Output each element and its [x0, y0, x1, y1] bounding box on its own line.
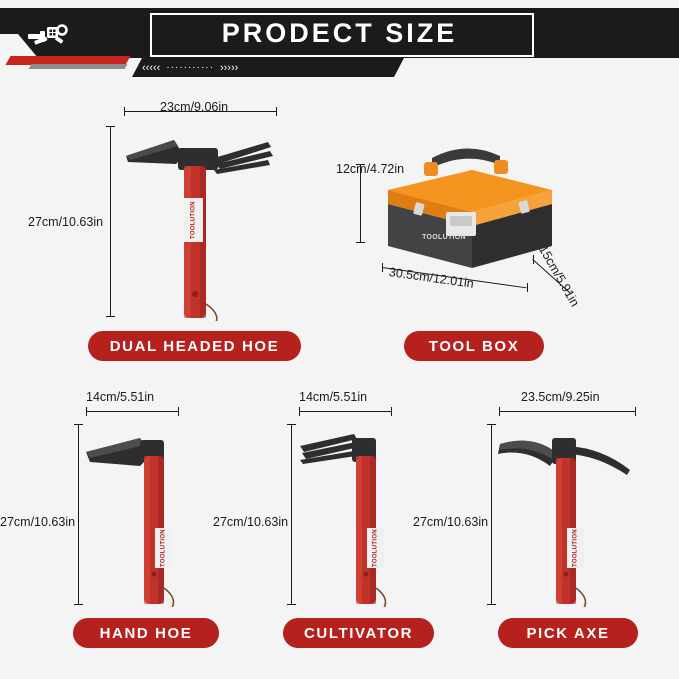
dim-tick: [86, 407, 87, 416]
dim-tick: [74, 424, 83, 425]
chevron-strip: ‹‹‹‹‹ ··········· ›››››: [132, 58, 404, 77]
dim-line-height: [110, 126, 111, 316]
page-header: PRODECT SIZE ‹‹‹‹‹ ··········· ›››››: [0, 0, 679, 84]
product-name-hand-hoe: HAND HOE: [73, 618, 219, 648]
product-name-dual-headed-hoe: DUAL HEADED HOE: [88, 331, 301, 361]
chevrons-left: ‹‹‹‹‹: [142, 62, 160, 74]
dim-width-label: 14cm/5.51in: [299, 390, 367, 404]
dim-line-width: [499, 411, 635, 412]
dim-tick: [635, 407, 636, 416]
dim-line-width: [86, 411, 178, 412]
pick-axe-image: [496, 422, 641, 607]
dual-headed-hoe-image: [118, 126, 288, 321]
dim-height-label: 27cm/10.63in: [28, 215, 103, 229]
dim-tick: [276, 107, 277, 116]
brand-plate: TOOLUTION: [367, 528, 384, 568]
dim-height-label: 27cm/10.63in: [413, 515, 488, 529]
dim-tick: [74, 604, 83, 605]
dim-tick: [356, 242, 365, 243]
page-title: PRODECT SIZE: [0, 8, 679, 58]
product-name-pick-axe: PICK AXE: [498, 618, 638, 648]
dim-tick: [287, 604, 296, 605]
chevrons-right: ›››››: [220, 62, 238, 74]
dim-tick: [178, 407, 179, 416]
dim-tick: [106, 316, 115, 317]
dim-width-label: 23.5cm/9.25in: [521, 390, 600, 404]
dim-tick: [499, 407, 500, 416]
dim-tick: [299, 407, 300, 416]
dim-line-height: [78, 424, 79, 604]
brand-plate: TOOLUTION: [155, 528, 172, 568]
brand-plate: TOOLUTION: [567, 528, 584, 568]
brand-plate: TOOLUTION: [184, 198, 203, 242]
brand-plate: TOOLUTION: [420, 232, 468, 242]
tool-box-image: [376, 134, 561, 274]
header-gray-accent: [29, 64, 128, 69]
dim-tick: [106, 126, 115, 127]
dim-tick: [487, 424, 496, 425]
dim-line-height: [491, 424, 492, 604]
dim-line-height: [291, 424, 292, 604]
dim-tick: [527, 283, 528, 292]
dim-width-label: 23cm/9.06in: [160, 100, 228, 114]
dim-tick: [124, 107, 125, 116]
hand-hoe-image: [84, 422, 194, 607]
dim-tick: [487, 604, 496, 605]
dim-width-label: 14cm/5.51in: [86, 390, 154, 404]
dim-tick: [391, 407, 392, 416]
chevron-dots: ···········: [162, 62, 218, 73]
dim-line-width: [299, 411, 391, 412]
dim-height-label: 27cm/10.63in: [0, 515, 75, 529]
product-name-cultivator: CULTIVATOR: [283, 618, 434, 648]
dim-height-label: 27cm/10.63in: [213, 515, 288, 529]
dim-tick: [287, 424, 296, 425]
dim-height-label: 12cm/4.72in: [336, 163, 352, 176]
cultivator-image: [296, 422, 406, 607]
product-name-tool-box: TOOL BOX: [404, 331, 544, 361]
